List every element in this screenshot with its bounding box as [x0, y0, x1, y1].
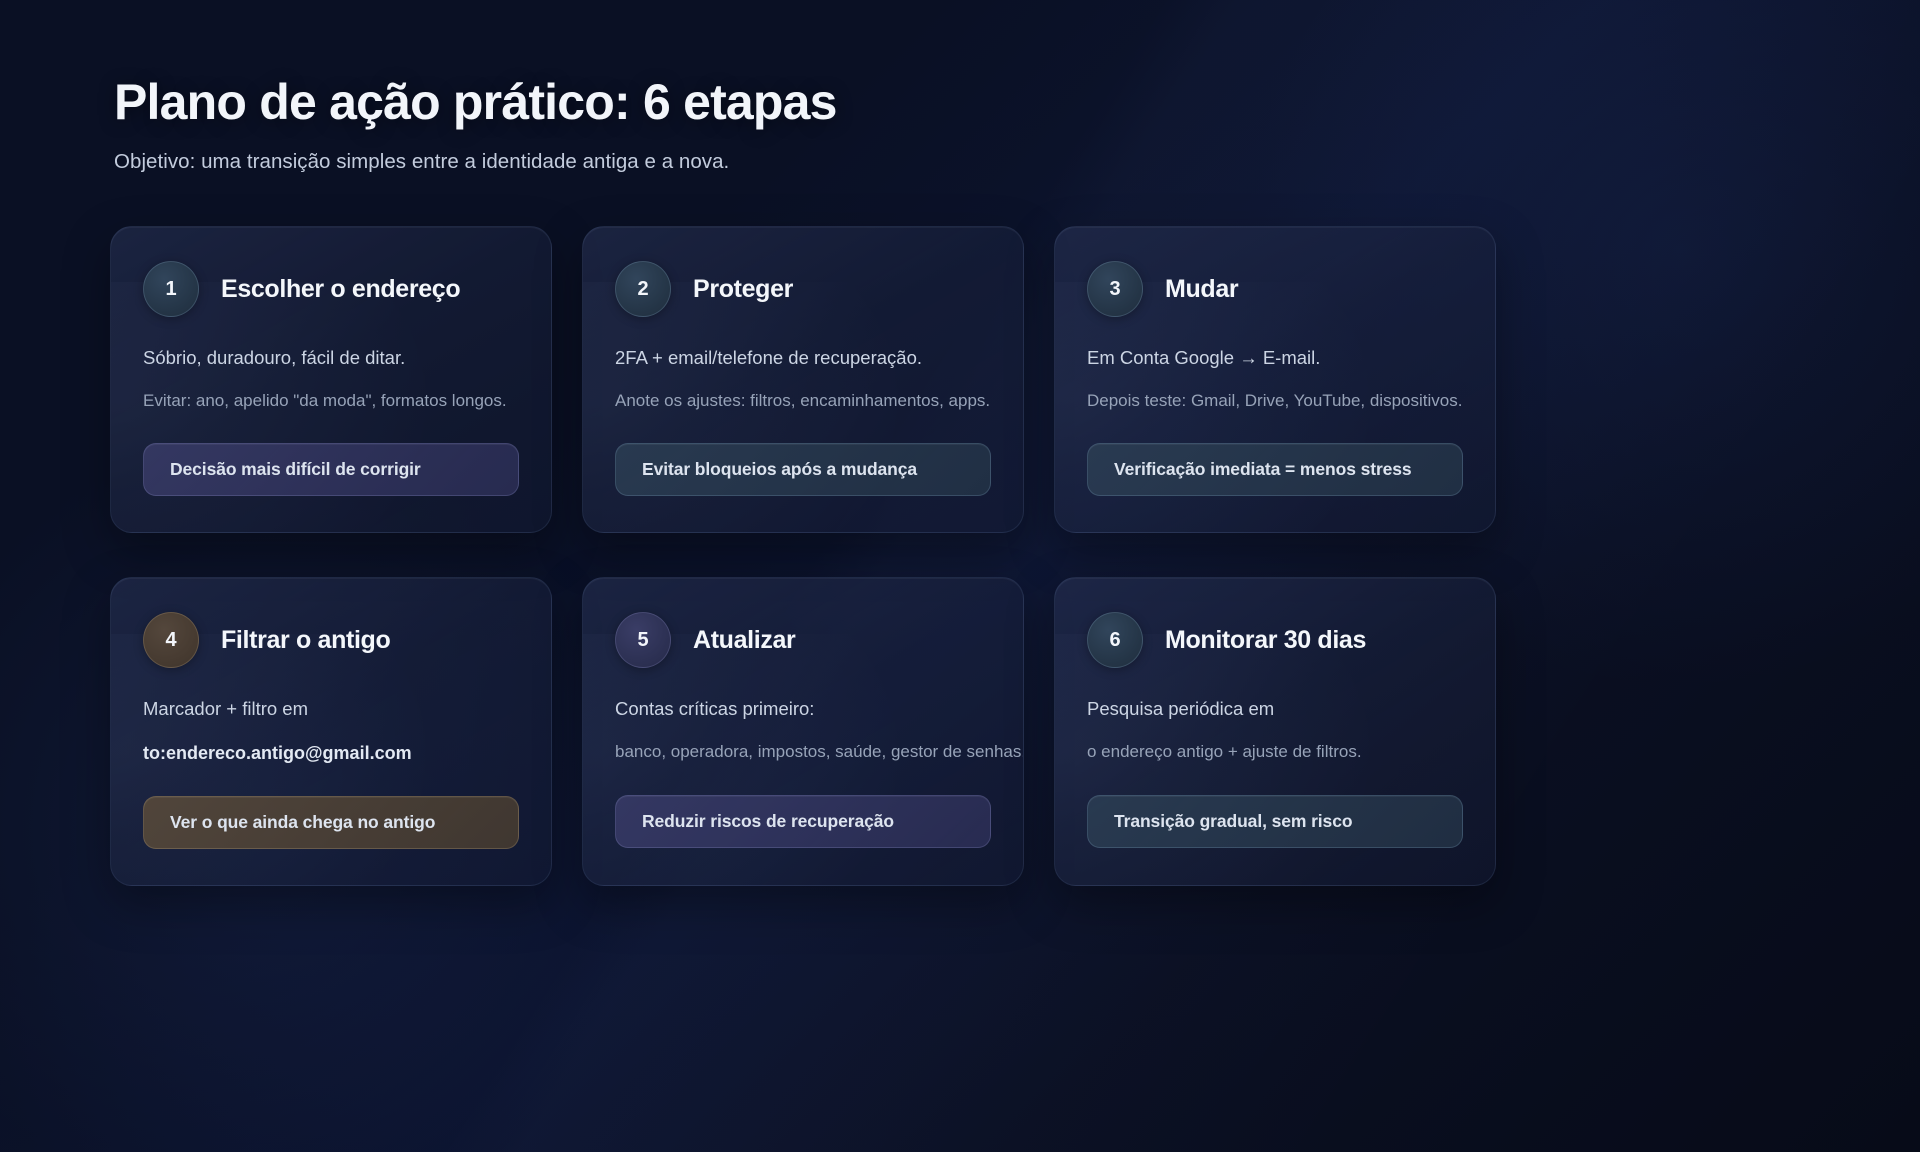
step-card-primary-text: Sóbrio, duradouro, fácil de ditar.: [143, 345, 519, 372]
step-card-secondary-text: Evitar: ano, apelido "da moda", formatos…: [143, 389, 519, 414]
step-card-header: 2 Proteger: [615, 261, 991, 317]
step-card-primary-text: 2FA + email/telefone de recuperação.: [615, 345, 991, 372]
step-card-outcome-pill[interactable]: Verificação imediata = menos stress: [1087, 443, 1463, 496]
step-card-secondary-text: banco, operadora, impostos, saúde, gesto…: [615, 740, 991, 765]
step-number-badge: 2: [615, 261, 671, 317]
step-card-header: 6 Monitorar 30 dias: [1087, 612, 1463, 668]
step-card-outcome-pill[interactable]: Evitar bloqueios após a mudança: [615, 443, 991, 496]
step-card-title: Proteger: [693, 275, 793, 304]
step-card-title: Escolher o endereço: [221, 275, 460, 304]
step-card-title: Filtrar o antigo: [221, 626, 390, 655]
step-card-primary-text: Pesquisa periódica em: [1087, 696, 1463, 723]
step-card[interactable]: 4 Filtrar o antigo Marcador + filtro em …: [110, 577, 552, 886]
step-card-header: 5 Atualizar: [615, 612, 991, 668]
page-title: Plano de ação prático: 6 etapas: [114, 74, 1806, 130]
step-card-primary-text: Em Conta Google → E-mail.: [1087, 345, 1463, 372]
steps-grid: 1 Escolher o endereço Sóbrio, duradouro,…: [0, 226, 1920, 886]
step-card-secondary-text: Depois teste: Gmail, Drive, YouTube, dis…: [1087, 389, 1463, 414]
step-card-title: Monitorar 30 dias: [1165, 626, 1366, 655]
step-card-primary-text: Contas críticas primeiro:: [615, 696, 991, 723]
page-subtitle: Objetivo: uma transição simples entre a …: [114, 150, 1806, 174]
step-card[interactable]: 3 Mudar Em Conta Google → E-mail. Depois…: [1054, 226, 1496, 533]
step-number-badge: 1: [143, 261, 199, 317]
step-card-secondary-text: Anote os ajustes: filtros, encaminhament…: [615, 389, 991, 414]
step-card-secondary-text: to:endereco.antigo@gmail.com: [143, 740, 519, 766]
step-number-badge: 3: [1087, 261, 1143, 317]
step-card-primary-text: Marcador + filtro em: [143, 696, 519, 723]
step-number-badge: 6: [1087, 612, 1143, 668]
step-card-secondary-text: o endereço antigo + ajuste de filtros.: [1087, 740, 1463, 765]
step-number-badge: 5: [615, 612, 671, 668]
page-header: Plano de ação prático: 6 etapas Objetivo…: [0, 74, 1920, 174]
step-number-badge: 4: [143, 612, 199, 668]
step-card-header: 4 Filtrar o antigo: [143, 612, 519, 668]
step-card[interactable]: 2 Proteger 2FA + email/telefone de recup…: [582, 226, 1024, 533]
step-card-outcome-pill[interactable]: Decisão mais difícil de corrigir: [143, 443, 519, 496]
step-card[interactable]: 6 Monitorar 30 dias Pesquisa periódica e…: [1054, 577, 1496, 886]
step-card-outcome-pill[interactable]: Transição gradual, sem risco: [1087, 795, 1463, 848]
page-root: Plano de ação prático: 6 etapas Objetivo…: [0, 0, 1920, 1152]
step-card[interactable]: 5 Atualizar Contas críticas primeiro: ba…: [582, 577, 1024, 886]
step-card-outcome-pill[interactable]: Ver o que ainda chega no antigo: [143, 796, 519, 849]
step-card-title: Mudar: [1165, 275, 1238, 304]
step-card-outcome-pill[interactable]: Reduzir riscos de recuperação: [615, 795, 991, 848]
step-card-title: Atualizar: [693, 626, 795, 655]
step-card-header: 1 Escolher o endereço: [143, 261, 519, 317]
step-card-header: 3 Mudar: [1087, 261, 1463, 317]
step-card[interactable]: 1 Escolher o endereço Sóbrio, duradouro,…: [110, 226, 552, 533]
